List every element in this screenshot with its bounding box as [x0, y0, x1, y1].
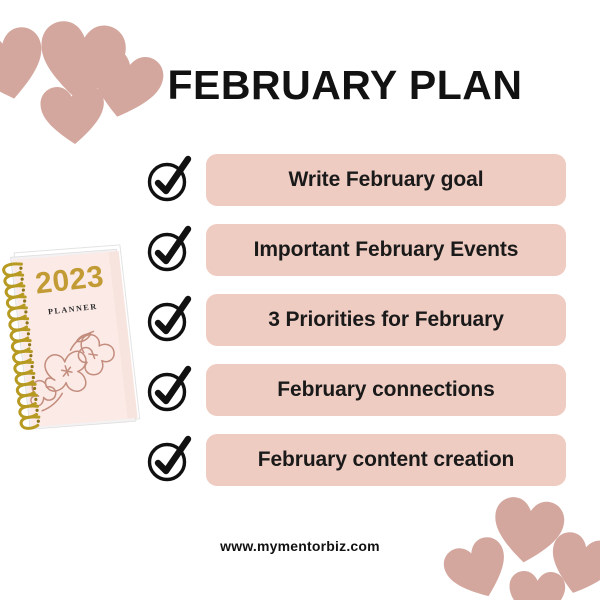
checklist-item-label: Important February Events	[254, 238, 519, 262]
check-circle-icon[interactable]	[146, 434, 194, 486]
heart-icon	[507, 567, 567, 600]
checklist-pill[interactable]: Important February Events	[206, 224, 566, 276]
checklist-pill[interactable]: 3 Priorities for February	[206, 294, 566, 346]
checklist: Write February goal Important February E…	[146, 151, 566, 501]
checklist-item-label: February connections	[277, 378, 494, 402]
list-item[interactable]: Important February Events	[146, 221, 566, 279]
checklist-item-label: 3 Priorities for February	[268, 308, 504, 332]
checklist-item-label: February content creation	[258, 448, 515, 472]
page-title: FEBRUARY PLAN	[130, 62, 560, 109]
list-item[interactable]: February content creation	[146, 431, 566, 489]
checklist-pill[interactable]: Write February goal	[206, 154, 566, 206]
checklist-pill[interactable]: February connections	[206, 364, 566, 416]
check-circle-icon[interactable]	[146, 364, 194, 416]
list-item[interactable]: February connections	[146, 361, 566, 419]
check-circle-icon[interactable]	[146, 224, 194, 276]
check-circle-icon[interactable]	[146, 294, 194, 346]
planner-book-image: 2023 PLANNER	[0, 235, 146, 438]
list-item[interactable]: 3 Priorities for February	[146, 291, 566, 349]
check-circle-icon[interactable]	[146, 154, 194, 206]
footer-url[interactable]: www.mymentorbiz.com	[0, 538, 600, 554]
checklist-item-label: Write February goal	[289, 168, 484, 192]
february-plan-poster: FEBRUARY PLAN	[0, 0, 600, 600]
list-item[interactable]: Write February goal	[146, 151, 566, 209]
checklist-pill[interactable]: February content creation	[206, 434, 566, 486]
heart-icon	[38, 80, 108, 150]
